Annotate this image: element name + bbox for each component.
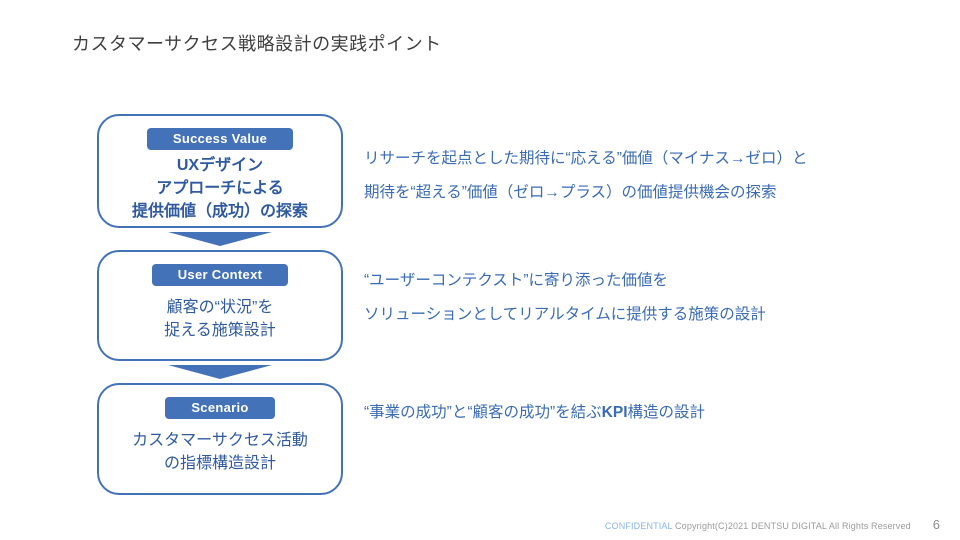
step-body-success-value: UXデザイン アプローチによる 提供価値（成功）の探索 bbox=[107, 154, 333, 224]
description-success-value: リサーチを起点とした期待に“応える”価値（マイナス→ゼロ）と 期待を“超える”価… bbox=[364, 142, 808, 210]
down-arrow-icon bbox=[168, 365, 272, 379]
step-body-scenario: カスタマーサクセス活動 の指標構造設計 bbox=[107, 423, 333, 475]
slide-footer: CONFIDENTIAL Copyright(C)2021 DENTSU DIG… bbox=[605, 517, 940, 532]
list-item: Success Value UXデザイン アプローチによる 提供価値（成功）の探… bbox=[97, 114, 343, 228]
step-box-success-value[interactable]: Success Value UXデザイン アプローチによる 提供価値（成功）の探… bbox=[97, 114, 343, 228]
page-title: カスタマーサクセス戦略設計の実践ポイント bbox=[72, 30, 442, 56]
footer-copyright: CONFIDENTIAL Copyright(C)2021 DENTSU DIG… bbox=[605, 521, 911, 531]
step-box-scenario[interactable]: Scenario カスタマーサクセス活動 の指標構造設計 bbox=[97, 383, 343, 495]
page-number: 6 bbox=[933, 517, 940, 532]
step-badge-success-value: Success Value bbox=[147, 128, 293, 150]
description-user-context: “ユーザーコンテクスト”に寄り添った価値を ソリューションとしてリアルタイムに提… bbox=[364, 264, 766, 332]
down-arrow-icon bbox=[168, 232, 272, 246]
copyright-text: Copyright(C)2021 DENTSU DIGITAL All Righ… bbox=[675, 521, 911, 531]
list-item: Scenario カスタマーサクセス活動 の指標構造設計 bbox=[97, 383, 343, 495]
step-badge-scenario: Scenario bbox=[165, 397, 274, 419]
step-list: Success Value UXデザイン アプローチによる 提供価値（成功）の探… bbox=[97, 114, 343, 495]
connector-1 bbox=[97, 228, 343, 250]
step-box-user-context[interactable]: User Context 顧客の“状況”を 捉える施策設計 bbox=[97, 250, 343, 361]
step-badge-user-context: User Context bbox=[152, 264, 289, 286]
confidential-label: CONFIDENTIAL bbox=[605, 521, 672, 531]
step-body-user-context: 顧客の“状況”を 捉える施策設計 bbox=[107, 290, 333, 342]
description-scenario: “事業の成功”と“顧客の成功”を結ぶKPI構造の設計 bbox=[364, 396, 705, 430]
connector-2 bbox=[97, 361, 343, 383]
list-item: User Context 顧客の“状況”を 捉える施策設計 bbox=[97, 250, 343, 361]
